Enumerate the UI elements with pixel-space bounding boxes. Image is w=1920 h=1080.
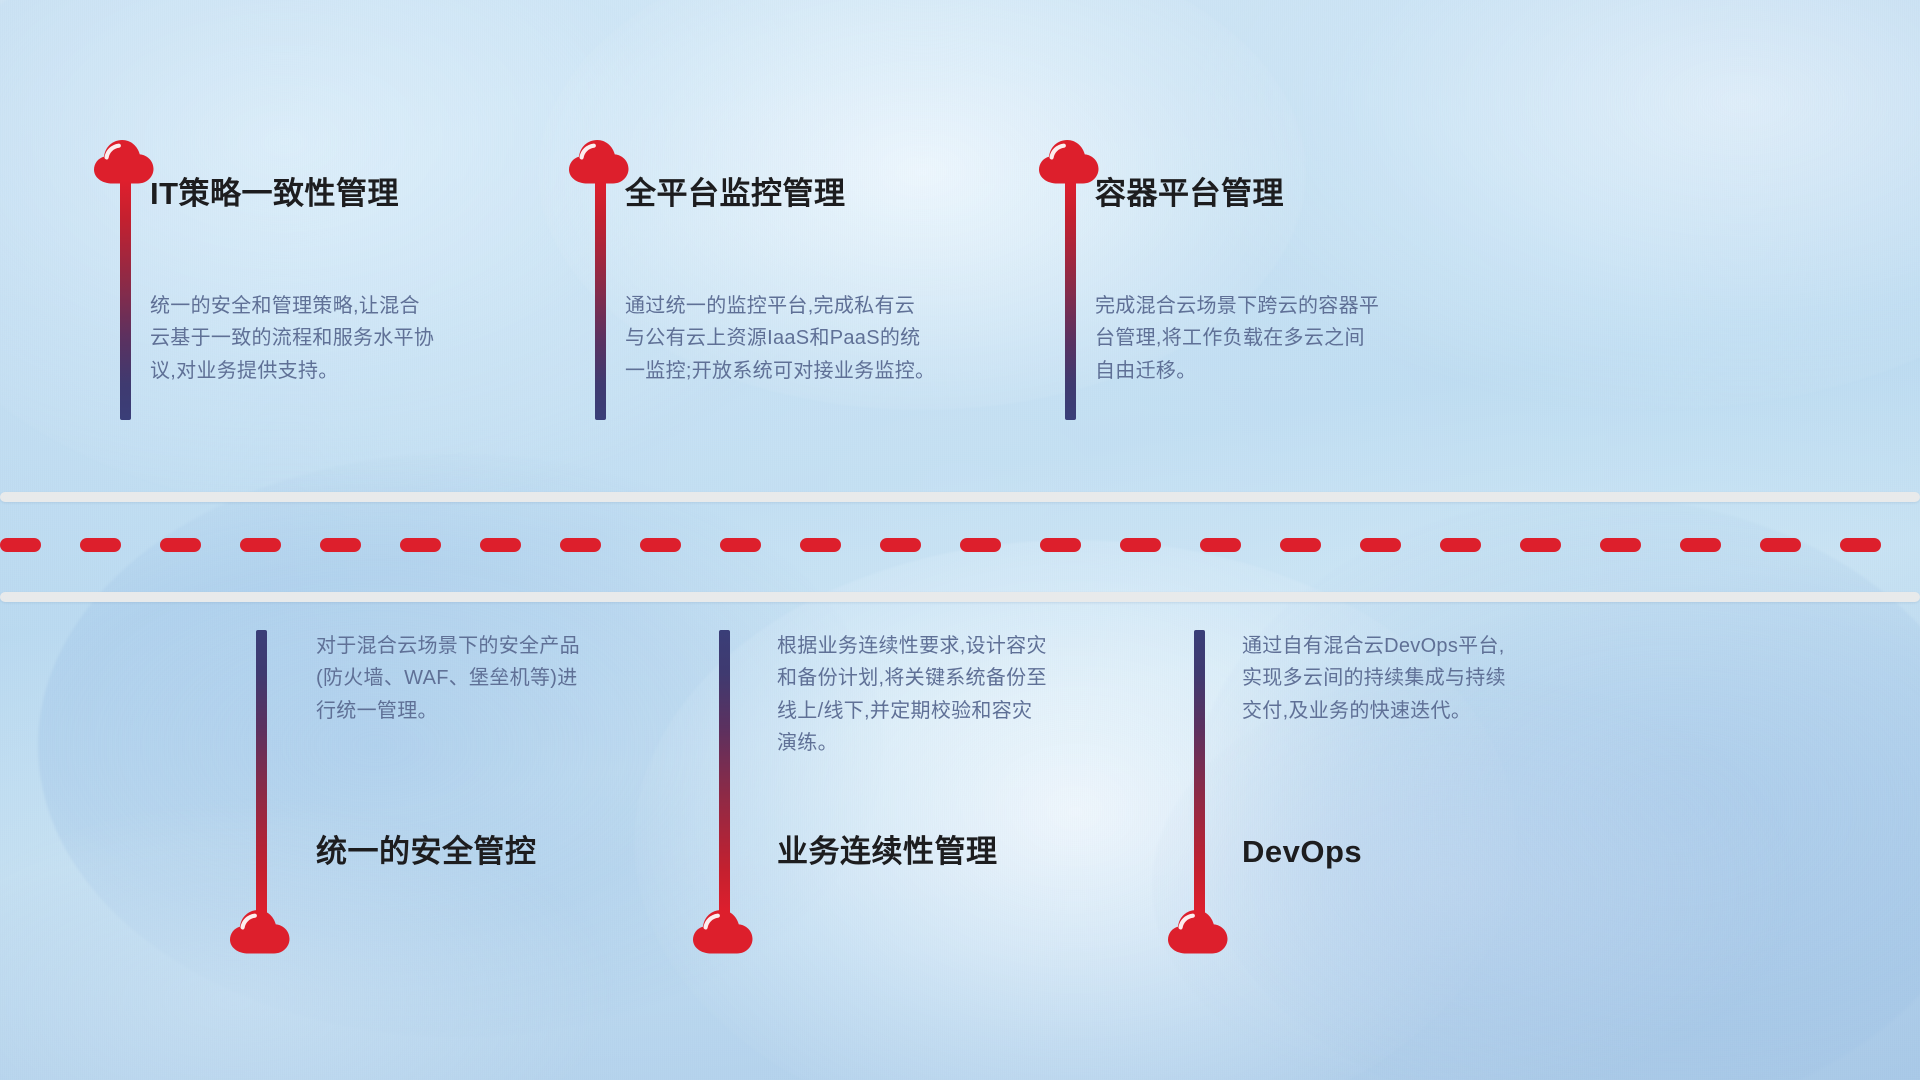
card-description: 根据业务连续性要求,设计容灾 和备份计划,将关键系统备份至 线上/线下,并定期校… (777, 630, 1147, 760)
road-dash (960, 538, 1001, 552)
connector-line (719, 630, 730, 916)
road-dash (1440, 538, 1481, 552)
road-dash (880, 538, 921, 552)
card-description: 通过统一的监控平台,完成私有云 与公有云上资源IaaS和PaaS的统 一监控;开… (625, 290, 995, 387)
road-dash (1520, 538, 1561, 552)
card-title: IT策略一致性管理 (150, 178, 399, 209)
cloud-icon (693, 910, 755, 954)
card-title: DevOps (1242, 836, 1362, 867)
road-dash (560, 538, 601, 552)
road-dash (1280, 538, 1321, 552)
road-dash (80, 538, 121, 552)
road-dash (320, 538, 361, 552)
cloud-icon (1168, 910, 1230, 954)
connector-line (1065, 180, 1076, 420)
road-dash (640, 538, 681, 552)
card-description: 完成混合云场景下跨云的容器平 台管理,将工作负载在多云之间 自由迁移。 (1095, 290, 1445, 387)
cloud-icon (1039, 140, 1101, 184)
cloud-icon (569, 140, 631, 184)
card-title: 业务连续性管理 (777, 836, 998, 867)
road-edge-line-bottom (0, 592, 1920, 602)
road-dash (1680, 538, 1721, 552)
cloud-icon (230, 910, 292, 954)
road-dash (1040, 538, 1081, 552)
connector-line (120, 180, 131, 420)
connector-line (256, 630, 267, 916)
road-center-dashes (0, 538, 1920, 552)
road-dash (1760, 538, 1801, 552)
road-dash (480, 538, 521, 552)
road-divider (0, 484, 1920, 614)
road-dash (1840, 538, 1881, 552)
card-title: 全平台监控管理 (625, 178, 846, 209)
card-title: 容器平台管理 (1095, 178, 1284, 209)
connector-line (1194, 630, 1205, 916)
card-title: 统一的安全管控 (316, 836, 537, 867)
road-dash (800, 538, 841, 552)
card-description: 通过自有混合云DevOps平台, 实现多云间的持续集成与持续 交付,及业务的快速… (1242, 630, 1582, 727)
road-dash (1600, 538, 1641, 552)
cloud-icon (94, 140, 156, 184)
road-dash (160, 538, 201, 552)
road-edge-line-top (0, 492, 1920, 502)
road-dash (0, 538, 41, 552)
road-dash (1360, 538, 1401, 552)
road-dash (720, 538, 761, 552)
road-dash (240, 538, 281, 552)
connector-line (595, 180, 606, 420)
road-dash (400, 538, 441, 552)
road-dash (1200, 538, 1241, 552)
card-description: 统一的安全和管理策略,让混合 云基于一致的流程和服务水平协 议,对业务提供支持。 (150, 290, 500, 387)
card-description: 对于混合云场景下的安全产品 (防火墙、WAF、堡垒机等)进 行统一管理。 (316, 630, 676, 727)
road-dash (1120, 538, 1161, 552)
